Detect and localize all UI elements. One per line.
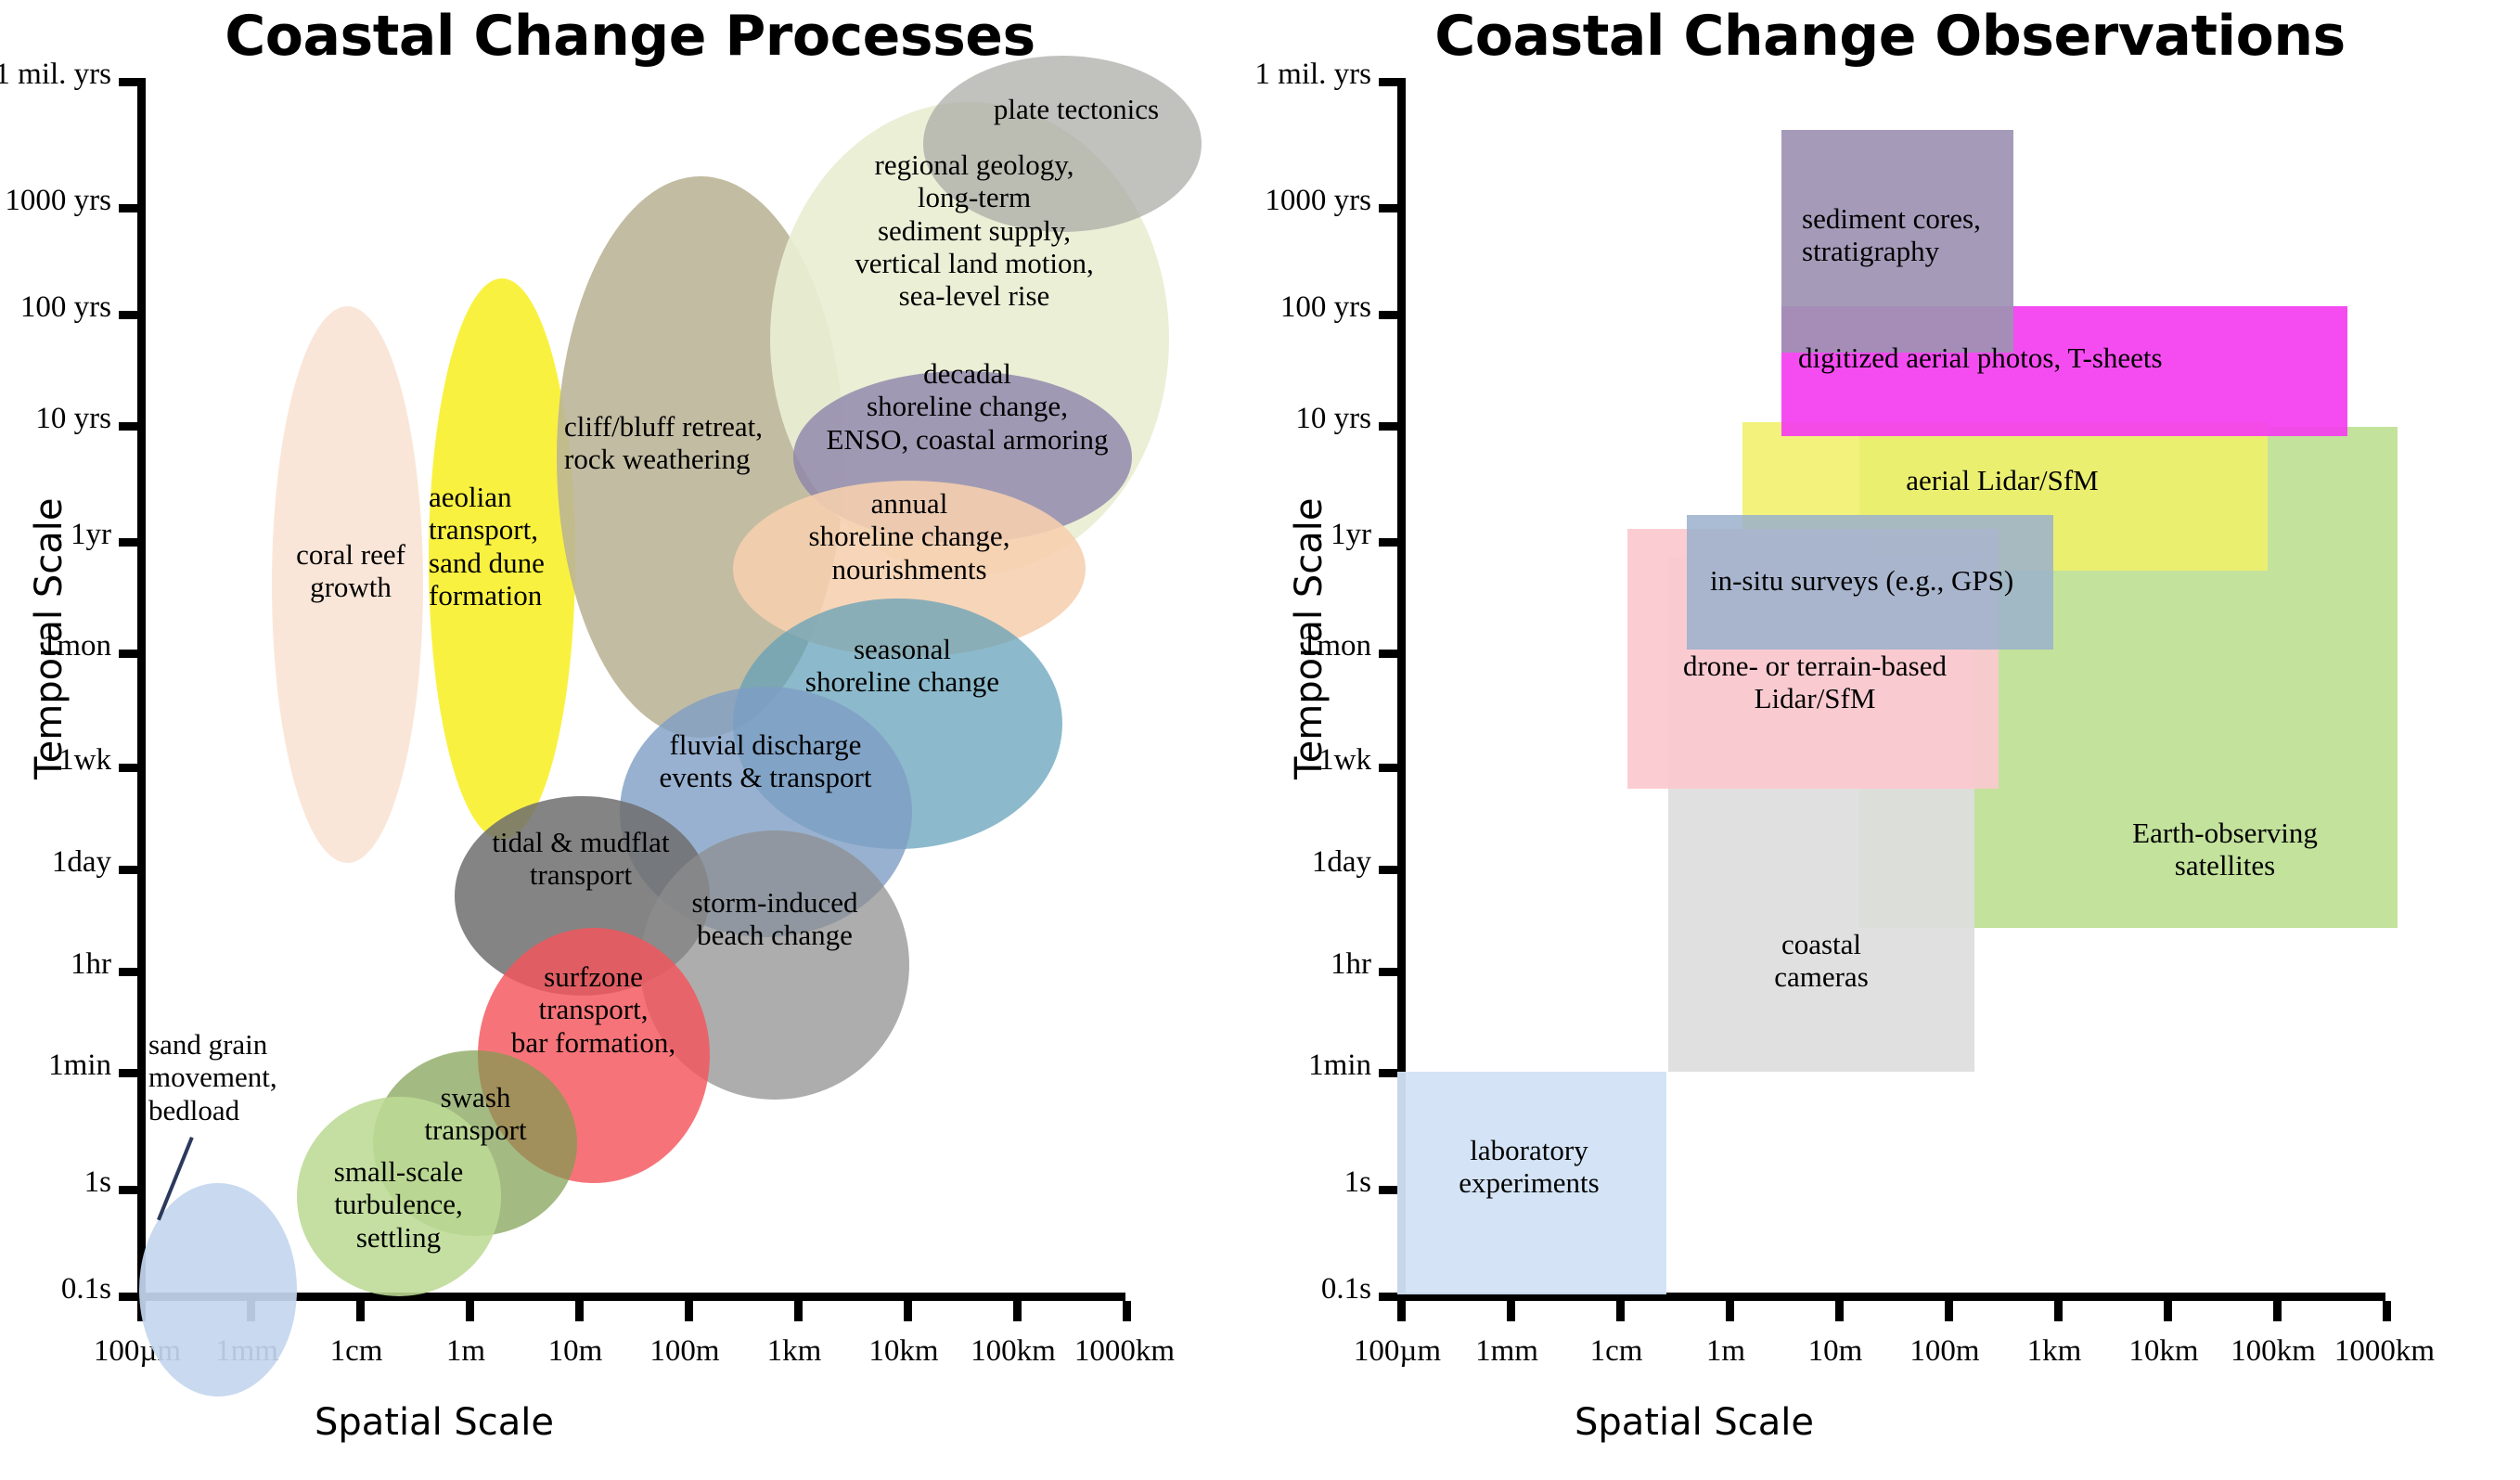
left-xtick-1km	[794, 1301, 803, 1321]
left-xtick-1cm	[356, 1301, 365, 1321]
left-ytick-1000yrs	[119, 204, 139, 212]
observation-rect-laboratory-experiments	[1397, 1072, 1666, 1294]
right-ylabel-1day: 1day	[1251, 847, 1371, 878]
right-ylabel-100yrs: 100 yrs	[1251, 292, 1371, 323]
left-ylabel-1yr: 1yr	[0, 520, 111, 550]
left-ytick-10yrs	[119, 422, 139, 431]
right-xtick-10m	[1835, 1301, 1844, 1321]
right-xtick-1m	[1726, 1301, 1734, 1321]
coastal-change-figure: Coastal Change Processes Temporal Scale …	[0, 0, 2520, 1480]
observation-rect-sediment-cores	[1781, 130, 2013, 353]
left-ylabel-1000yrs: 1000 yrs	[0, 186, 111, 216]
process-blob-sand-grain-movement	[139, 1183, 297, 1396]
right-xtick-100km	[2273, 1301, 2282, 1321]
right-ytick-1day	[1379, 866, 1399, 874]
left-ytick-1yr	[119, 538, 139, 547]
process-blob-plate-tectonics	[923, 56, 1202, 232]
right-ytick-1000yrs	[1379, 204, 1399, 212]
process-blob-small-scale-turbulence	[297, 1097, 501, 1296]
left-xtick-1m	[466, 1301, 474, 1321]
left-ylabel-1s: 1s	[0, 1167, 111, 1198]
left-y-axis-line	[137, 78, 146, 1301]
process-blob-coral-reef-growth	[272, 306, 423, 863]
left-ytick-1s	[119, 1186, 139, 1194]
right-ylabel-1000yrs: 1000 yrs	[1251, 186, 1371, 216]
right-ytick-100yrs	[1379, 311, 1399, 319]
right-ytick-1wk	[1379, 764, 1399, 772]
left-xtick-10km	[904, 1301, 912, 1321]
right-ylabel-1s: 1s	[1251, 1167, 1371, 1198]
right-ylabel-10yrs: 10 yrs	[1251, 404, 1371, 434]
right-ylabel-1min: 1min	[1251, 1050, 1371, 1081]
panel-coastal-change-processes: Coastal Change Processes Temporal Scale …	[0, 0, 1260, 1480]
right-xtick-100um	[1397, 1301, 1406, 1321]
left-ylabel-100yrs: 100 yrs	[0, 292, 111, 323]
right-xtick-1cm	[1616, 1301, 1625, 1321]
right-ylabel-1yr: 1yr	[1251, 520, 1371, 550]
left-ytick-01s	[119, 1293, 139, 1301]
left-xtick-100m	[685, 1301, 693, 1321]
right-x-axis-title: Spatial Scale	[1397, 1401, 1991, 1444]
right-xtick-10km	[2164, 1301, 2172, 1321]
observation-rect-in-situ-surveys	[1687, 515, 2053, 650]
left-ylabel-10yrs: 10 yrs	[0, 404, 111, 434]
right-ylabel-1milyrs: 1 mil. yrs	[1251, 59, 1371, 90]
left-ytick-1mon	[119, 650, 139, 658]
process-label-sand-grain-movement: sand grain movement, bedload	[148, 1028, 371, 1126]
right-xtick-1km	[2054, 1301, 2063, 1321]
right-xlabel-1000km: 1000km	[2292, 1336, 2477, 1367]
left-xtick-1000km	[1123, 1301, 1131, 1321]
left-ytick-1milyrs	[119, 78, 139, 86]
left-ylabel-01s: 0.1s	[0, 1274, 111, 1305]
left-ytick-100yrs	[119, 311, 139, 319]
left-ylabel-1hr: 1hr	[0, 949, 111, 980]
right-ylabel-1wk: 1wk	[1251, 745, 1371, 776]
right-ylabel-1mon: 1mon	[1251, 631, 1371, 662]
left-xlabel-1000km: 1000km	[1032, 1336, 1217, 1367]
left-ylabel-1day: 1day	[0, 847, 111, 878]
right-ytick-1s	[1379, 1186, 1399, 1194]
right-panel-title: Coastal Change Observations	[1260, 4, 2520, 69]
right-ytick-1milyrs	[1379, 78, 1399, 86]
right-ylabel-1hr: 1hr	[1251, 949, 1371, 980]
left-ytick-1day	[119, 866, 139, 874]
process-blob-aeolian-transport	[429, 278, 575, 840]
right-xtick-1000km	[2383, 1301, 2391, 1321]
right-xtick-1mm	[1507, 1301, 1515, 1321]
left-ytick-1wk	[119, 764, 139, 772]
right-ytick-1hr	[1379, 968, 1399, 976]
right-ytick-10yrs	[1379, 422, 1399, 431]
left-ytick-1hr	[119, 968, 139, 976]
left-ylabel-1wk: 1wk	[0, 745, 111, 776]
left-ylabel-1mon: 1mon	[0, 631, 111, 662]
panel-coastal-change-observations: Coastal Change Observations Temporal Sca…	[1260, 0, 2520, 1480]
left-ylabel-1min: 1min	[0, 1050, 111, 1081]
right-ytick-1min	[1379, 1069, 1399, 1077]
right-xtick-100m	[1945, 1301, 1953, 1321]
right-ytick-1yr	[1379, 538, 1399, 547]
right-ytick-1mon	[1379, 650, 1399, 658]
right-ylabel-01s: 0.1s	[1251, 1274, 1371, 1305]
left-xtick-100km	[1013, 1301, 1022, 1321]
left-ytick-1min	[119, 1069, 139, 1077]
right-ytick-01s	[1379, 1293, 1399, 1301]
left-x-axis-title: Spatial Scale	[137, 1401, 731, 1444]
left-xtick-10m	[575, 1301, 584, 1321]
left-ylabel-1milyrs: 1 mil. yrs	[0, 59, 111, 90]
